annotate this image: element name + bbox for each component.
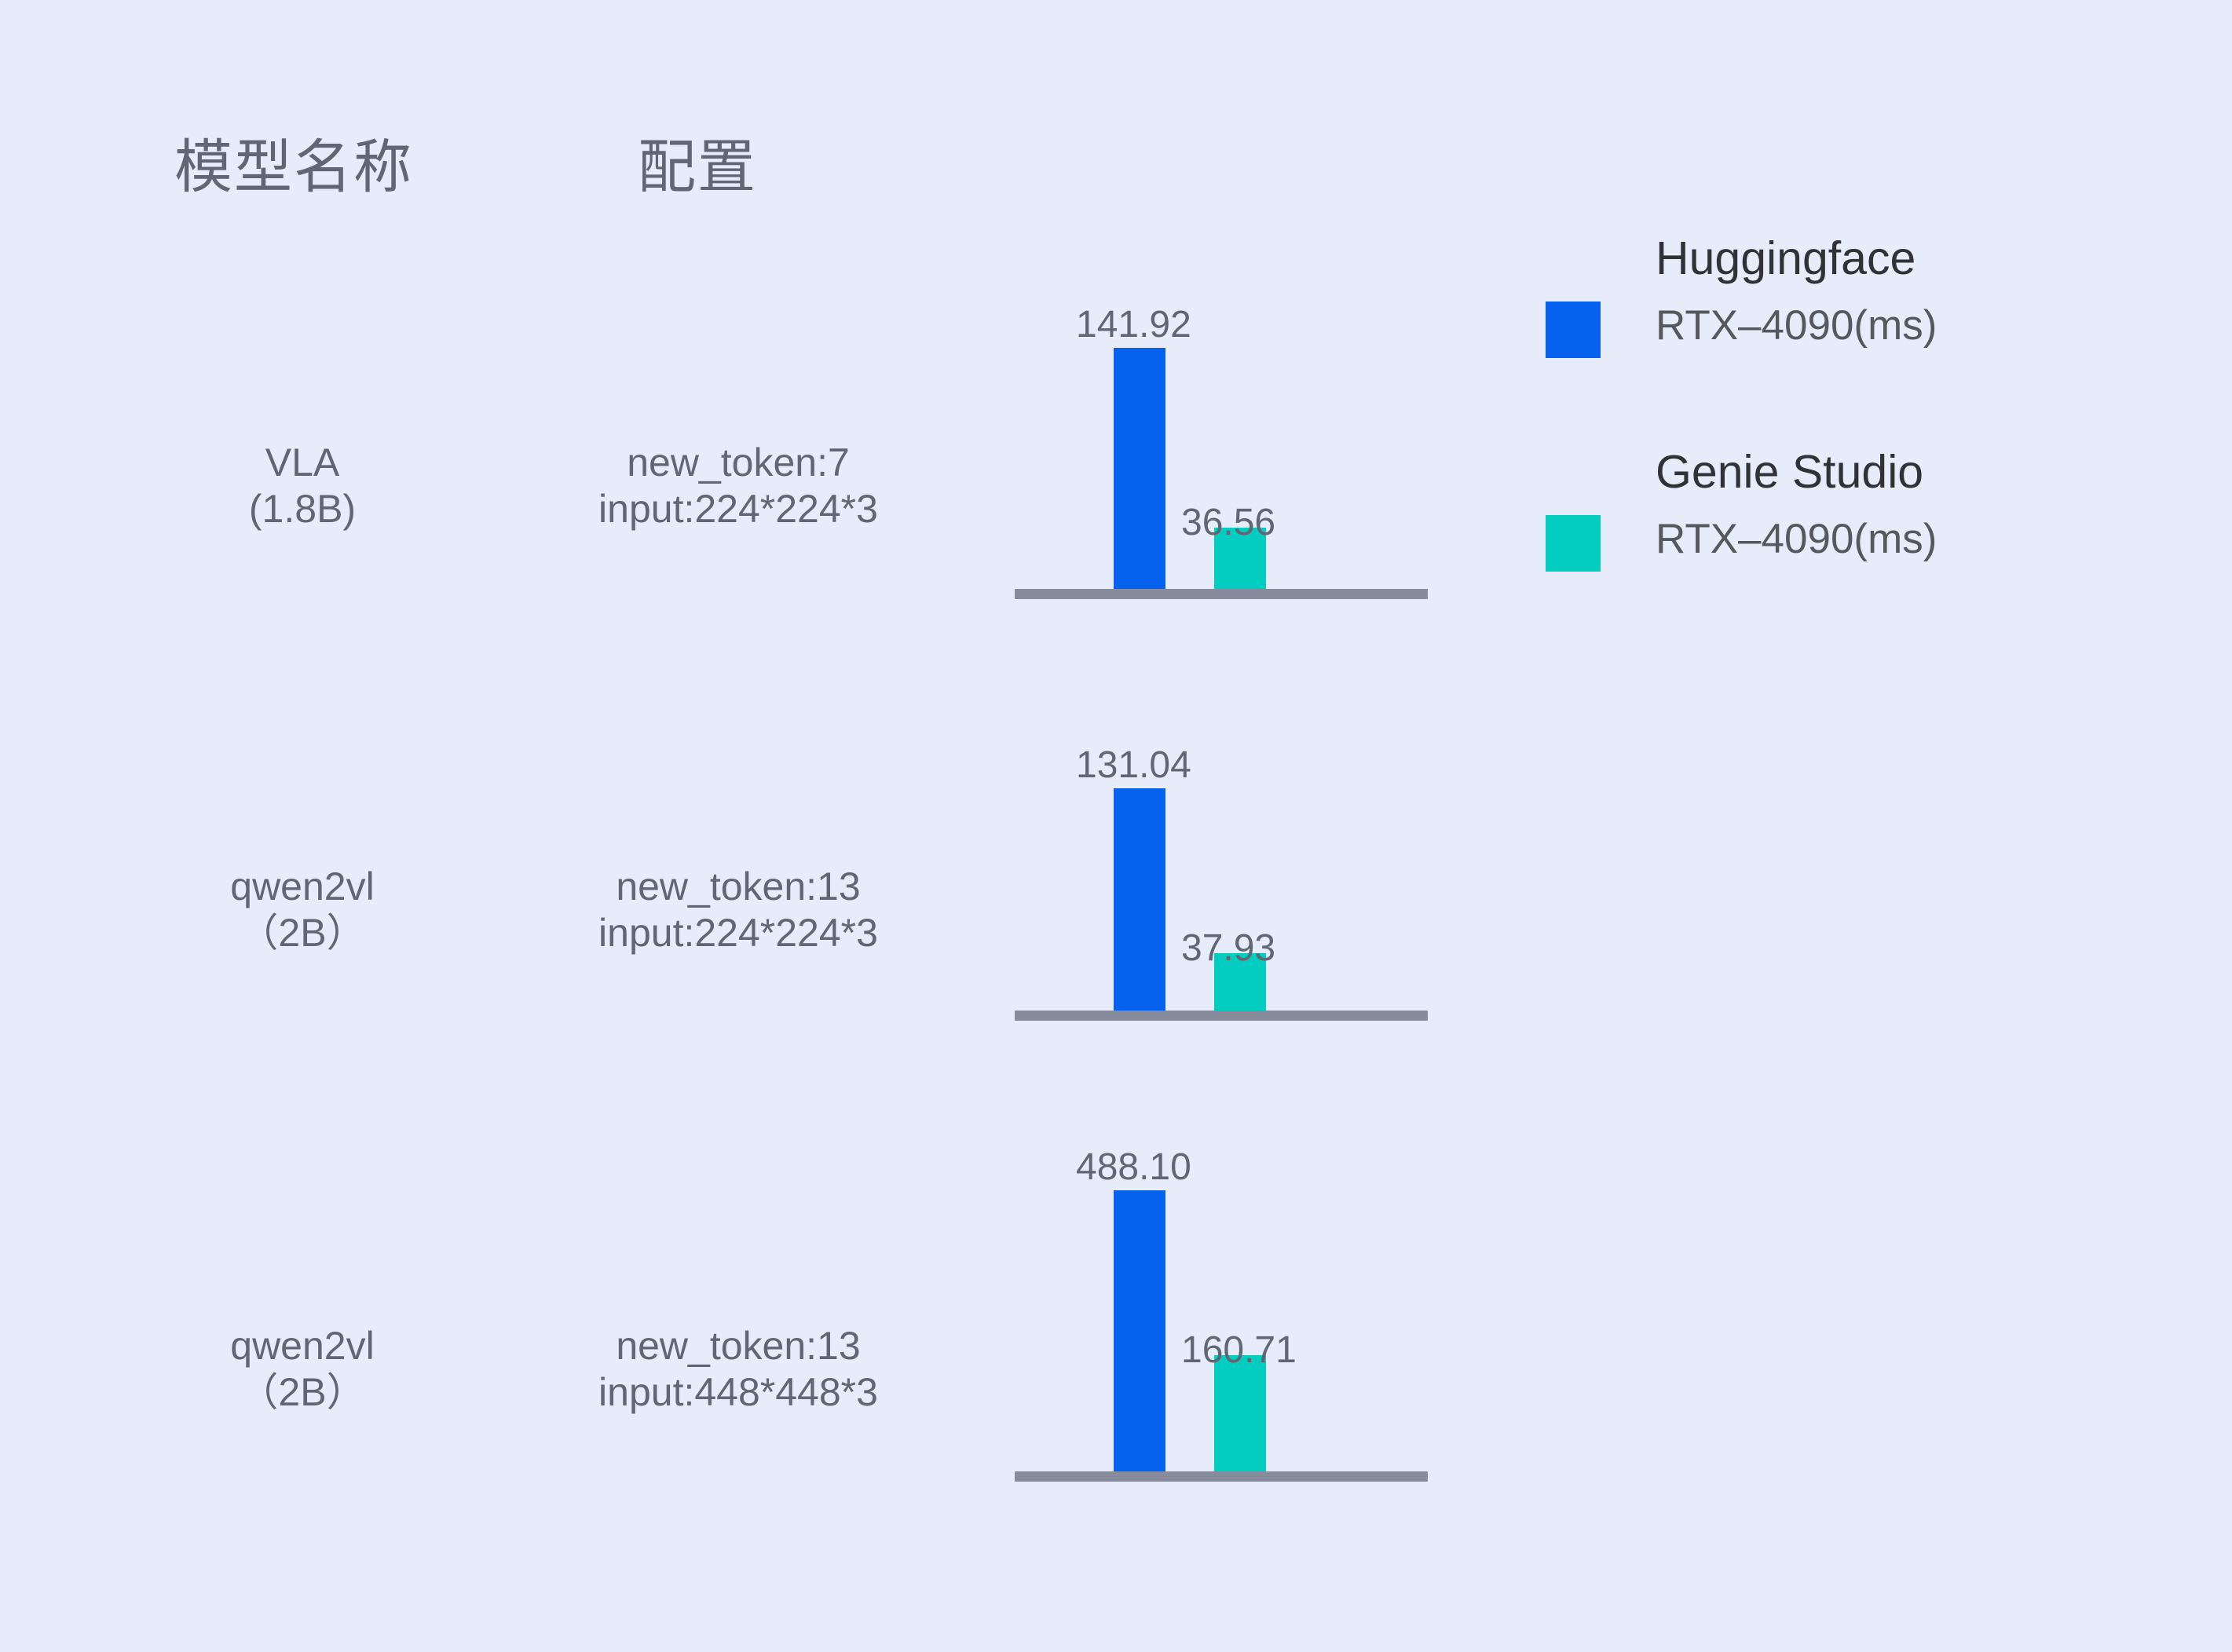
- chart-canvas: 模型名称 配置 VLA (1.8B) new_token:7 input:224…: [0, 0, 2232, 1652]
- row-config: new_token:7 input:224*224*3: [475, 440, 1001, 532]
- bar-value-label-huggingface: 488.10: [1076, 1149, 1191, 1186]
- bar-value-label-huggingface: 131.04: [1076, 747, 1191, 784]
- legend-square-icon: [1546, 302, 1601, 358]
- row-model-name: qwen2vl （2B）: [141, 1323, 463, 1415]
- legend-text-block: Genie Studio RTX–4090(ms): [1656, 449, 2158, 560]
- axis-baseline: [1015, 1011, 1428, 1021]
- row-model-name: VLA (1.8B): [141, 440, 463, 532]
- legend-square-icon: [1546, 515, 1601, 572]
- column-header-config: 配置: [638, 138, 757, 196]
- legend-series-sublabel: RTX–4090(ms): [1656, 518, 2158, 560]
- bar-genie-studio[interactable]: [1214, 1355, 1266, 1471]
- bar-value-label-genie-studio: 37.93: [1181, 930, 1275, 967]
- row-config: new_token:13 input:224*224*3: [475, 864, 1001, 956]
- bar-value-label-huggingface: 141.92: [1076, 306, 1191, 344]
- legend-series-sublabel: RTX–4090(ms): [1656, 305, 2158, 346]
- bar-value-label-genie-studio: 36.56: [1181, 504, 1275, 542]
- bar-value-label-genie-studio: 160.71: [1181, 1332, 1297, 1369]
- bar-huggingface[interactable]: [1114, 788, 1165, 1011]
- bar-huggingface[interactable]: [1114, 348, 1165, 589]
- axis-baseline: [1015, 1471, 1428, 1482]
- column-header-model-name: 模型名称: [174, 138, 413, 196]
- row-config: new_token:13 input:448*448*3: [475, 1323, 1001, 1415]
- bar-huggingface[interactable]: [1114, 1190, 1165, 1476]
- axis-baseline: [1015, 589, 1428, 599]
- legend-series-name: Genie Studio: [1656, 449, 2158, 495]
- legend-series-name: Huggingface: [1656, 236, 2158, 282]
- legend-text-block: Huggingface RTX–4090(ms): [1656, 236, 2158, 346]
- row-model-name: qwen2vl （2B）: [141, 864, 463, 956]
